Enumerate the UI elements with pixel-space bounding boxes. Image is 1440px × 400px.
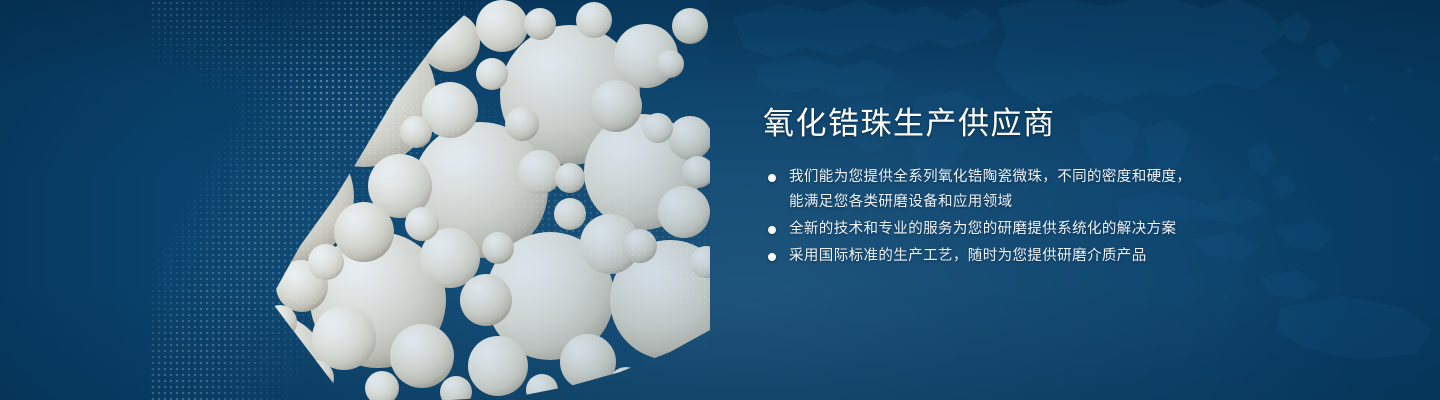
- feature-list: 我们能为您提供全系列氧化锆陶瓷微珠，不同的密度和硬度， 能满足您各类研磨设备和应…: [763, 165, 1233, 269]
- list-item: 全新的技术和专业的服务为您的研磨提供系统化的解决方案: [763, 217, 1233, 242]
- page-title: 氧化锆珠生产供应商: [763, 104, 1233, 144]
- list-item-line1: 采用国际标准的生产工艺，随时为您提供研磨介质产品: [789, 248, 1147, 264]
- list-item-line1: 全新的技术和专业的服务为您的研磨提供系统化的解决方案: [789, 221, 1176, 237]
- halftone-edge-pattern-2: [150, 0, 710, 400]
- dot-bullet-icon: [768, 226, 776, 234]
- list-item-line1: 我们能为您提供全系列氧化锆陶瓷微珠，不同的密度和硬度，: [789, 169, 1191, 185]
- dot-bullet-icon: [768, 253, 776, 261]
- hero-banner: 氧化锆珠生产供应商 我们能为您提供全系列氧化锆陶瓷微珠，不同的密度和硬度， 能满…: [0, 0, 1440, 400]
- list-item: 采用国际标准的生产工艺，随时为您提供研磨介质产品: [763, 244, 1233, 269]
- banner-copy: 氧化锆珠生产供应商 我们能为您提供全系列氧化锆陶瓷微珠，不同的密度和硬度， 能满…: [763, 104, 1233, 271]
- list-item: 我们能为您提供全系列氧化锆陶瓷微珠，不同的密度和硬度， 能满足您各类研磨设备和应…: [763, 165, 1233, 215]
- zirconia-beads-photo: [150, 0, 710, 400]
- dot-bullet-icon: [768, 174, 776, 182]
- list-item-line2: 能满足您各类研磨设备和应用领域: [789, 190, 1233, 215]
